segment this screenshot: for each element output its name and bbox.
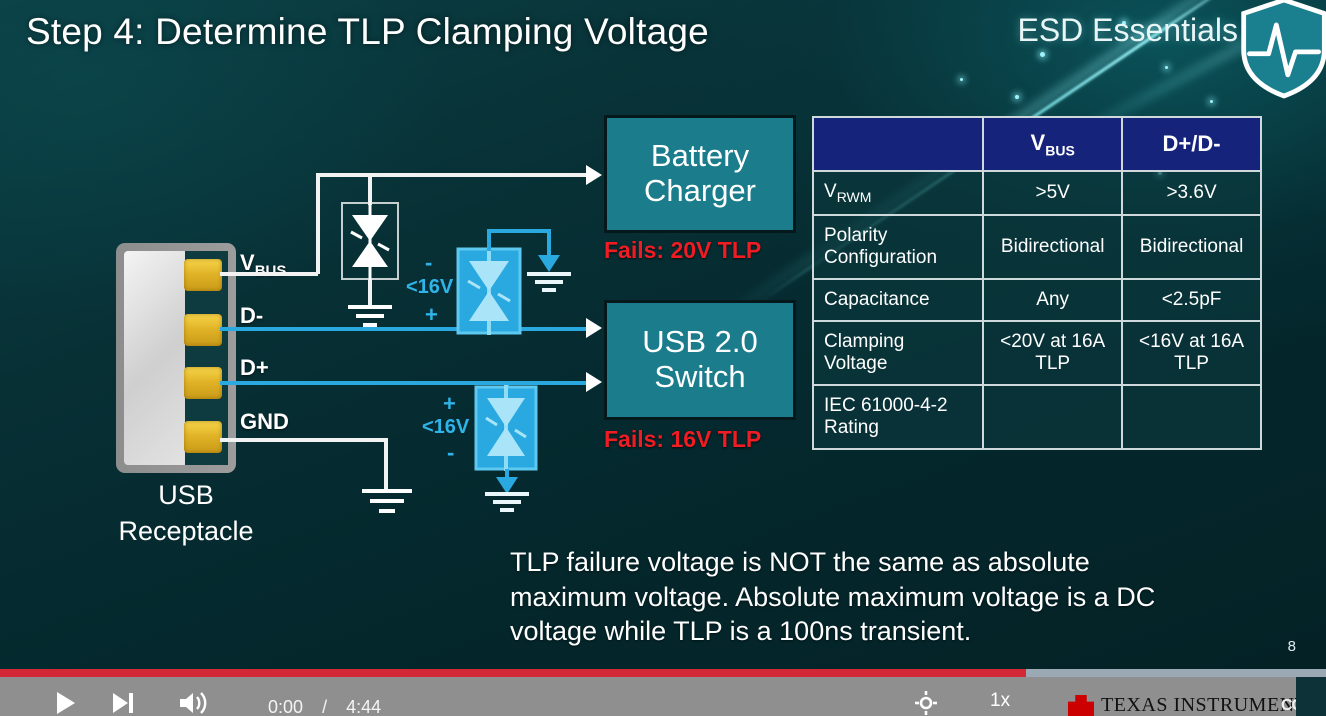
- cell-vrwm-dpdm: >3.6V: [1122, 171, 1261, 215]
- cell-iec-vbus: [983, 385, 1122, 449]
- signal-label-vbus-sub: BUS: [255, 262, 287, 279]
- player-time-display: 0:00 / 4:44: [268, 697, 381, 716]
- usb-caption-line2: Receptacle: [96, 516, 276, 547]
- tvs-diode-vbus-icon: [340, 201, 400, 281]
- circuit-diagram: USB Receptacle VBUS D- D+ GND: [0, 95, 820, 595]
- tvs-lower-rating: <16V: [422, 416, 469, 439]
- usb-caption-line1: USB: [106, 480, 266, 511]
- tvs-lower-minus-sign: -: [447, 440, 454, 466]
- progress-bar-track[interactable]: [0, 669, 1326, 677]
- page-title: Step 4: Determine TLP Clamping Voltage: [26, 11, 709, 53]
- wire-vbus-top: [316, 173, 592, 177]
- tvs-diode-upper-icon: [456, 247, 522, 335]
- shield-pulse-icon: [1236, 0, 1326, 100]
- battery-charger-line1: Battery: [644, 139, 756, 174]
- spec-table-header-blank: [813, 117, 983, 171]
- slide-number: 8: [1288, 638, 1296, 655]
- tvs-upper-minus-sign: -: [425, 250, 432, 276]
- spark-dot: [1210, 100, 1213, 103]
- ground-symbol-gnd-icon: [356, 488, 418, 518]
- spark-dot: [1015, 95, 1019, 99]
- wire-gnd-riser: [384, 438, 388, 490]
- signal-label-gnd: GND: [240, 409, 289, 435]
- spec-table: VBUS D+/D- VRWM >5V >3.6V Polarity Confi…: [812, 116, 1262, 450]
- arrow-to-usb-switch-dminus: [586, 318, 602, 338]
- cell-iec-dpdm: [1122, 385, 1261, 449]
- volume-icon[interactable]: [178, 690, 208, 716]
- table-row: Clamping Voltage <20V at 16A TLP <16V at…: [813, 321, 1261, 385]
- row-label-vrwm-sub: RWM: [837, 189, 872, 205]
- playback-speed-label[interactable]: 1x: [990, 690, 1010, 712]
- spec-table-header-dpdm: D+/D-: [1122, 117, 1261, 171]
- row-label-vrwm-text: V: [824, 181, 837, 202]
- slide-canvas: Step 4: Determine TLP Clamping Voltage E…: [0, 0, 1326, 669]
- spark-dot: [1165, 66, 1168, 69]
- signal-label-dminus: D-: [240, 303, 263, 329]
- cell-vrwm-vbus: >5V: [983, 171, 1122, 215]
- battery-charger-block: Battery Charger: [604, 115, 796, 233]
- cell-capacitance-vbus: Any: [983, 279, 1122, 321]
- row-label-iec: IEC 61000-4-2 Rating: [813, 385, 983, 449]
- table-row: Polarity Configuration Bidirectional Bid…: [813, 215, 1261, 279]
- wire-dminus: [220, 327, 592, 331]
- duration-time: 4:44: [346, 697, 381, 716]
- row-label-vrwm: VRWM: [813, 171, 983, 215]
- usb-switch-block: USB 2.0 Switch: [604, 300, 796, 420]
- wire-vbus-stub: [220, 272, 318, 276]
- ti-mark-icon: [1068, 695, 1094, 716]
- ground-symbol-lower-icon: [480, 491, 534, 515]
- progress-bar-played[interactable]: [0, 669, 1026, 677]
- table-row: VRWM >5V >3.6V: [813, 171, 1261, 215]
- tvs-lower-plus-sign: +: [443, 391, 456, 417]
- row-label-polarity: Polarity Configuration: [813, 215, 983, 279]
- table-row: IEC 61000-4-2 Rating: [813, 385, 1261, 449]
- next-track-icon[interactable]: [110, 690, 136, 716]
- header-vbus-text: V: [1031, 130, 1046, 155]
- ground-symbol-upper-icon: [522, 271, 576, 295]
- tvs-upper-plus-sign: +: [425, 302, 438, 328]
- current-time: 0:00: [268, 697, 303, 716]
- player-right-panel: [1296, 677, 1326, 716]
- usb-pin-gnd: [184, 421, 222, 453]
- play-icon[interactable]: [52, 690, 78, 716]
- tvs-upper-rating: <16V: [406, 276, 453, 299]
- tvs-diode-lower-icon: [474, 385, 538, 471]
- row-label-clamping: Clamping Voltage: [813, 321, 983, 385]
- cell-clamping-vbus: <20V at 16A TLP: [983, 321, 1122, 385]
- body-note: TLP failure voltage is NOT the same as a…: [510, 545, 1210, 649]
- table-row: Capacitance Any <2.5pF: [813, 279, 1261, 321]
- usb-pin-dplus: [184, 367, 222, 399]
- arrow-to-battery-charger: [586, 165, 602, 185]
- wire-upper-tvs-hook: [487, 229, 551, 233]
- cell-polarity-vbus: Bidirectional: [983, 215, 1122, 279]
- spec-table-header-row: VBUS D+/D-: [813, 117, 1261, 171]
- cell-capacitance-dpdm: <2.5pF: [1122, 279, 1261, 321]
- usb-switch-line2: Switch: [642, 360, 757, 395]
- battery-charger-fail-note: Fails: 20V TLP: [604, 237, 761, 264]
- settings-icon[interactable]: [912, 690, 940, 716]
- wire-vbus-tvs-bottom: [368, 280, 372, 307]
- usb-switch-line1: USB 2.0: [642, 325, 757, 360]
- slide-viewer: Step 4: Determine TLP Clamping Voltage E…: [0, 0, 1326, 716]
- usb-switch-fail-note: Fails: 16V TLP: [604, 426, 761, 453]
- battery-charger-line2: Charger: [644, 174, 756, 209]
- usb-pin-vbus: [184, 259, 222, 291]
- header-vbus-sub: BUS: [1045, 142, 1075, 158]
- arrow-to-usb-switch-dplus: [586, 372, 602, 392]
- row-label-capacitance: Capacitance: [813, 279, 983, 321]
- arrow-upper-tvs-ground: [538, 255, 560, 272]
- brand-label: ESD Essentials: [1017, 12, 1238, 49]
- spark-dot: [1040, 52, 1045, 57]
- time-separator: /: [308, 697, 341, 716]
- signal-label-dplus: D+: [240, 355, 269, 381]
- wire-vbus-riser: [316, 173, 320, 274]
- usb-pin-dminus: [184, 314, 222, 346]
- cell-polarity-dpdm: Bidirectional: [1122, 215, 1261, 279]
- spec-table-header-vbus: VBUS: [983, 117, 1122, 171]
- cell-clamping-dpdm: <16V at 16A TLP: [1122, 321, 1261, 385]
- spark-dot: [960, 78, 963, 81]
- wire-gnd-stub: [220, 438, 388, 442]
